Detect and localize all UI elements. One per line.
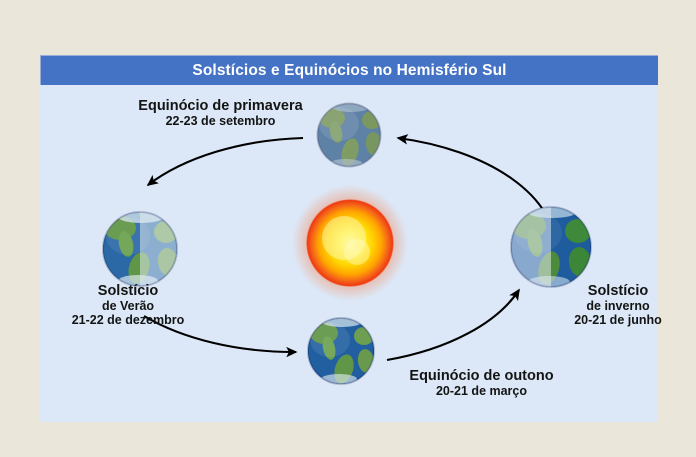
label-summer-solstice-title-line1: Solstício	[48, 283, 208, 299]
label-winter-solstice-title-line1: Solstício	[553, 283, 683, 299]
orbit-arc-top-left	[148, 138, 303, 185]
earth-globe-summer-solstice	[103, 209, 180, 289]
label-winter-solstice-date: 20-21 de junho	[553, 313, 683, 327]
label-winter-solstice-title-line2: de inverno	[553, 299, 683, 313]
label-summer-solstice-date: 21-22 de dezembro	[48, 313, 208, 327]
label-autumn-equinox-title: Equinócio de outono	[379, 368, 584, 384]
earth-globe-autumn-equinox	[308, 315, 376, 386]
label-autumn-equinox: Equinócio de outono 20-21 de março	[379, 368, 584, 398]
label-spring-equinox-title: Equinócio de primavera	[113, 98, 328, 114]
orbit-arc-bottom-right	[387, 290, 519, 360]
label-autumn-equinox-date: 20-21 de março	[379, 384, 584, 398]
label-summer-solstice-title-line2: de Verão	[48, 299, 208, 313]
label-summer-solstice: Solstício de Verão 21-22 de dezembro	[48, 283, 208, 327]
orbit-scene	[0, 0, 696, 457]
label-spring-equinox-date: 22-23 de setembro	[113, 114, 328, 128]
figure-canvas: Solstícios e Equinócios no Hemisfério Su…	[0, 0, 696, 457]
earth-globe-winter-solstice	[508, 204, 593, 290]
sun-icon	[292, 185, 408, 301]
label-winter-solstice: Solstício de inverno 20-21 de junho	[553, 283, 683, 327]
label-spring-equinox: Equinócio de primavera 22-23 de setembro	[113, 98, 328, 128]
